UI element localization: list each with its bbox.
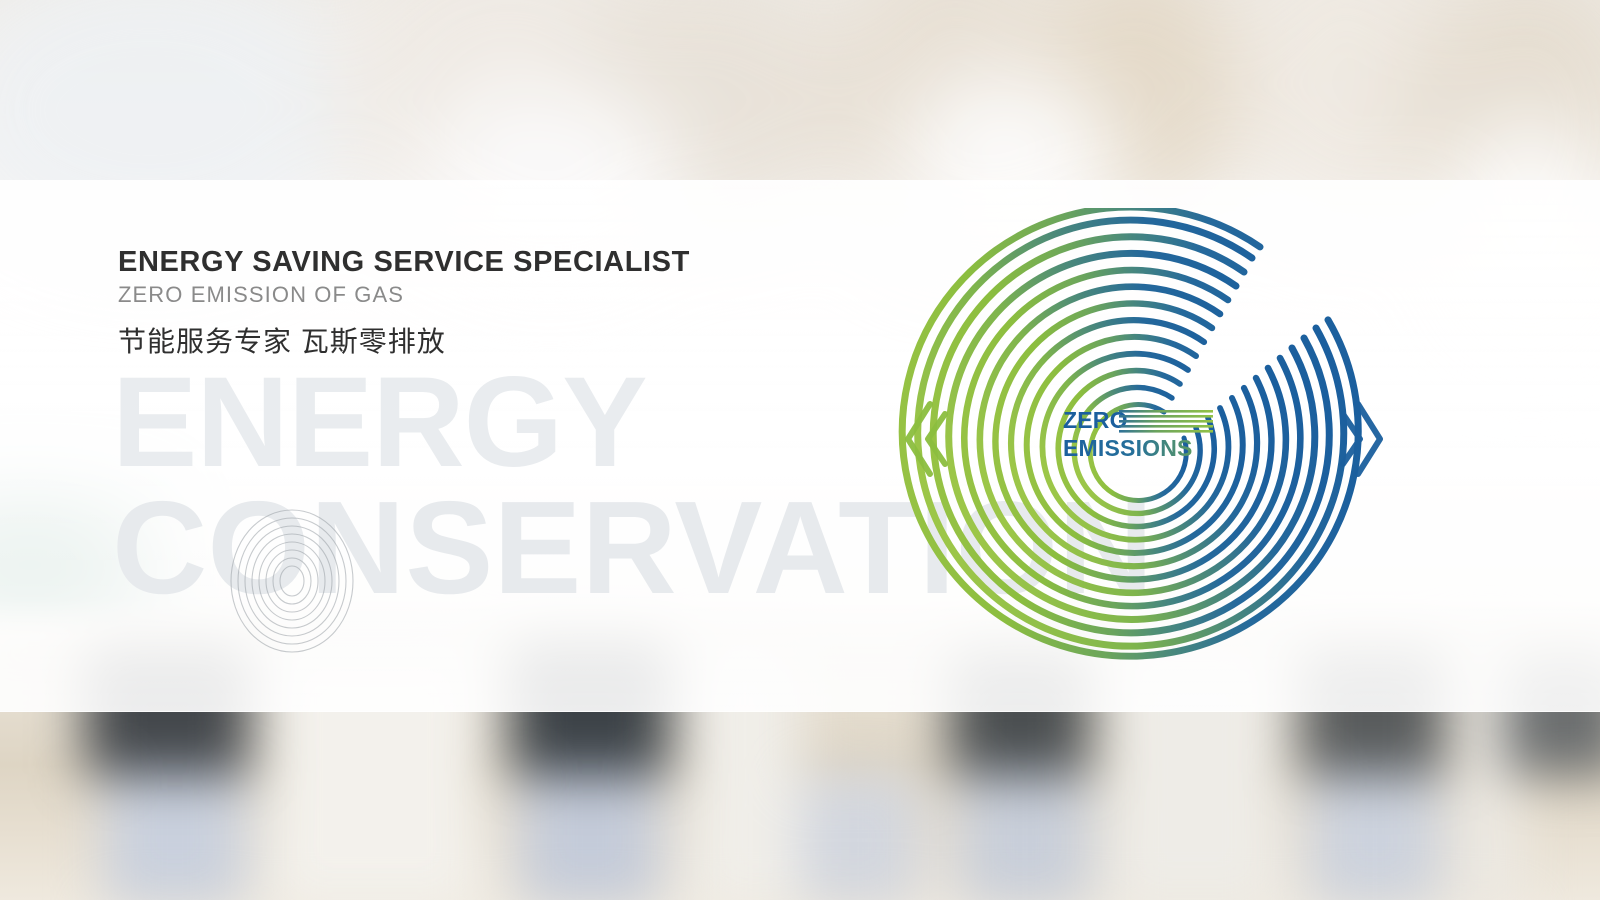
page-title: ENERGY SAVING SERVICE SPECIALIST [118,246,690,279]
wordmark-zero: ZERO [1063,407,1128,433]
wordmark-emissions: EMISSIONS [1063,435,1193,461]
page-title-chinese: 节能服务专家 瓦斯零排放 [118,320,690,360]
headline-block: ENERGY SAVING SERVICE SPECIALIST ZERO EM… [118,246,690,360]
watermark-spiral-icon [228,505,356,657]
wordmark-stripes-icon [1119,410,1213,433]
energy-banner: ENERGY CONSERVATION ENERGY SAVING SERVIC… [0,0,1600,900]
page-subtitle: ZERO EMISSION OF GAS [118,282,690,308]
zero-emissions-wordmark: ZERO EMISSIONS [1063,404,1213,472]
